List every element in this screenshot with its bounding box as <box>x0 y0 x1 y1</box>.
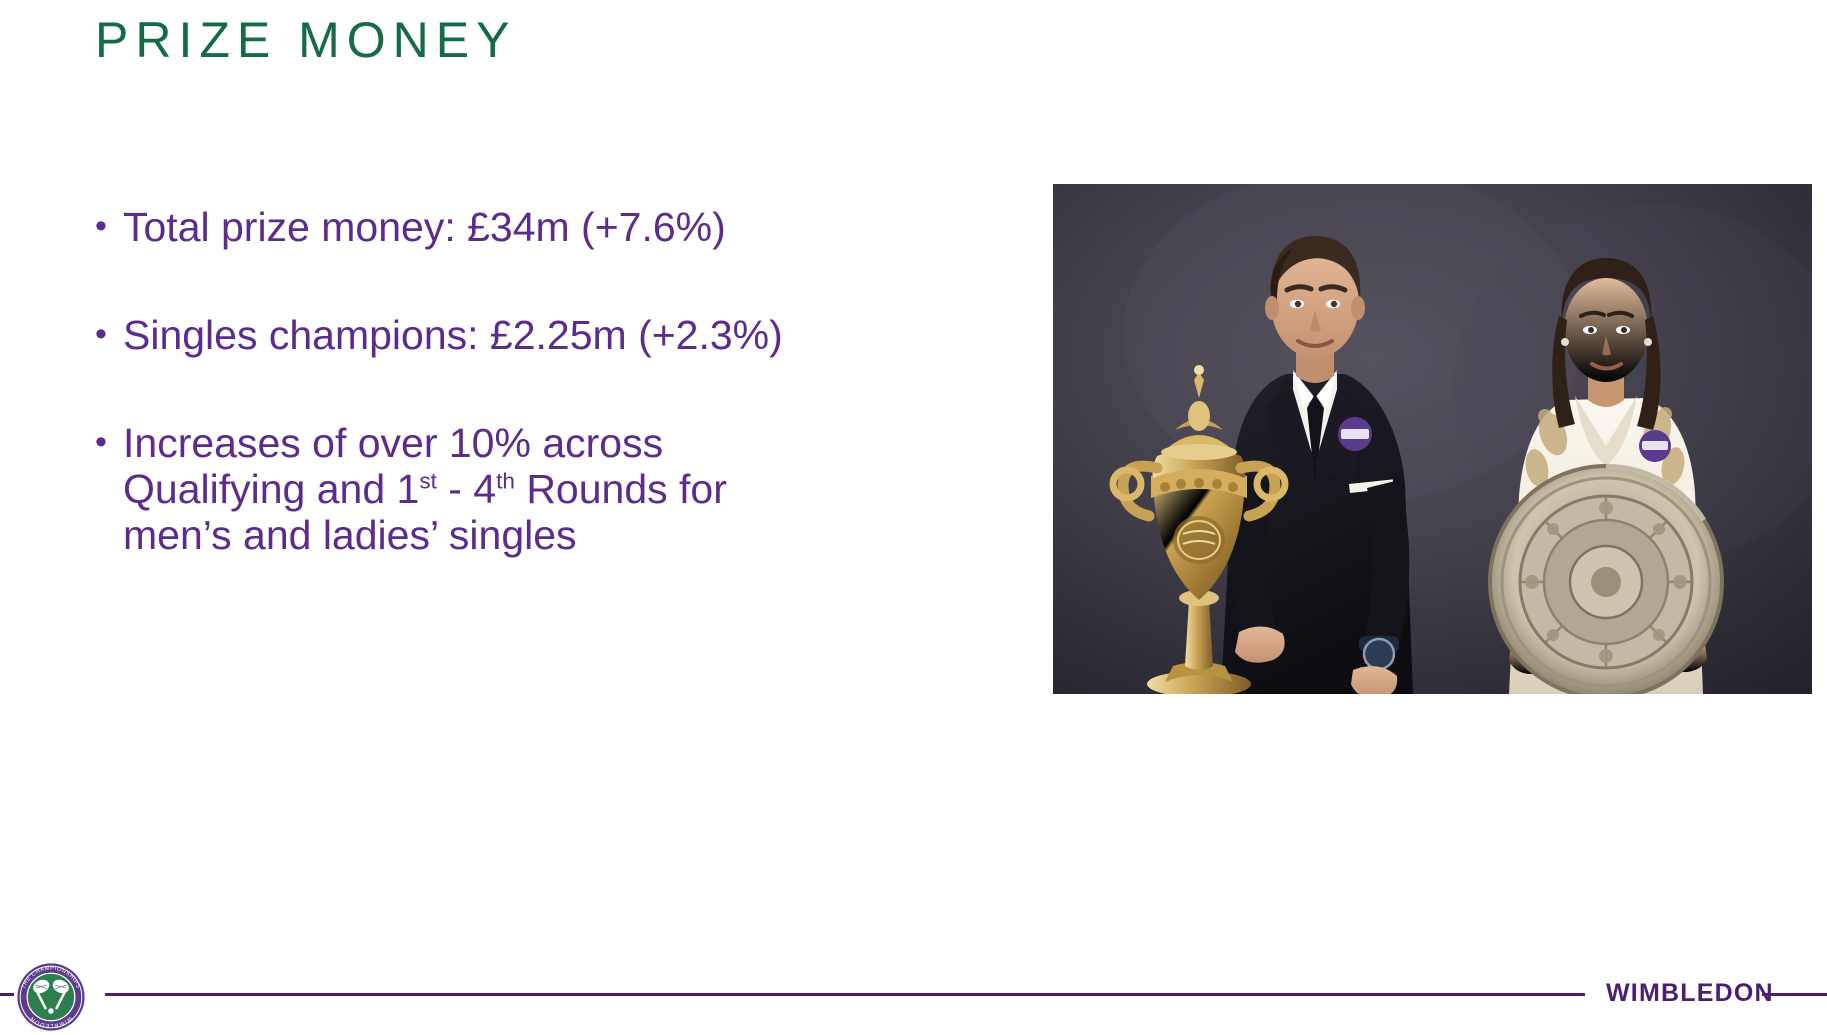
list-item: • Increases of over 10% across Qualifyin… <box>95 421 885 559</box>
bullet-marker-icon: • <box>95 421 123 464</box>
venus-rosewater-dish <box>1490 466 1722 694</box>
list-item: • Total prize money: £34m (+7.6%) <box>95 205 885 251</box>
bullet-line: Increases of over 10% across <box>123 421 885 467</box>
bullet-marker-icon: • <box>95 205 123 248</box>
footer-rule-left-stub <box>0 993 14 996</box>
footer-wordmark: WIMBLEDON <box>1606 979 1774 1008</box>
bullet-text: Increases of over 10% across Qualifying … <box>123 421 885 559</box>
ordinal-line-after: Rounds for <box>515 466 727 512</box>
list-item: • Singles champions: £2.25m (+2.3%) <box>95 313 885 359</box>
bullet-line: Total prize money: £34m (+7.6%) <box>123 205 885 251</box>
footer-rule-right-stub <box>1762 993 1827 996</box>
ordinal-line-middle: - 4 <box>437 466 496 512</box>
wimbledon-crest-illustration: THE CHAMPIONSHIPS WIMBLEDON <box>16 962 86 1032</box>
bullet-line: Singles champions: £2.25m (+2.3%) <box>123 313 885 359</box>
slide-footer: THE CHAMPIONSHIPS WIMBLEDON WIMBLEDON <box>0 960 1827 1035</box>
bullet-text: Singles champions: £2.25m (+2.3%) <box>123 313 885 359</box>
ordinal-line-before: Qualifying and 1 <box>123 466 419 512</box>
page-title: PRIZE MONEY <box>95 12 516 70</box>
footer-rule-main <box>105 993 1585 996</box>
bullet-text: Total prize money: £34m (+7.6%) <box>123 205 885 251</box>
bullet-list: • Total prize money: £34m (+7.6%) • Sing… <box>95 205 885 559</box>
bullet-line-ordinals: Qualifying and 1st - 4th Rounds for <box>123 467 885 513</box>
champions-photo-illustration <box>1053 184 1812 694</box>
bullet-line: men’s and ladies’ singles <box>123 513 885 559</box>
bullet-marker-icon: • <box>95 313 123 356</box>
ordinal-suffix-fourth: th <box>496 468 515 493</box>
champions-photo <box>1053 184 1812 694</box>
ordinal-suffix-first: st <box>419 468 437 493</box>
wimbledon-crest-icon: THE CHAMPIONSHIPS WIMBLEDON <box>16 962 86 1032</box>
slide: PRIZE MONEY • Total prize money: £34m (+… <box>0 0 1827 1035</box>
